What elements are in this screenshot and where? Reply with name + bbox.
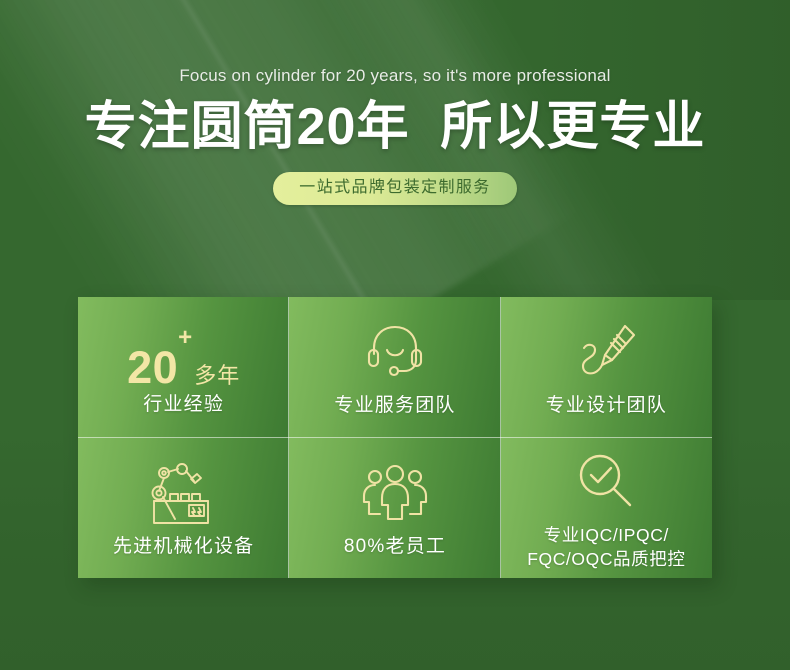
magnifier-check-icon	[572, 445, 640, 519]
feature-cell-quality-control: 专业IQC/IPQC/ FQC/OQC品质把控	[501, 438, 712, 579]
feature-label: 专业设计团队	[546, 393, 667, 419]
feature-label: 行业经验	[143, 392, 224, 418]
feature-cell-staff: 80%老员工	[289, 438, 500, 579]
tagline-row: 一站式品牌包装定制服务	[0, 172, 790, 205]
marker-pen-icon	[571, 315, 641, 389]
people-group-icon	[361, 456, 429, 530]
subtitle-english: Focus on cylinder for 20 years, so it's …	[0, 64, 790, 88]
feature-label: 专业IQC/IPQC/ FQC/OQC品质把控	[527, 523, 685, 571]
robot-arm-icon	[148, 456, 220, 530]
headline-block: Focus on cylinder for 20 years, so it's …	[0, 64, 790, 205]
feature-label: 先进机械化设备	[113, 534, 254, 560]
feature-cell-service-team: 专业服务团队	[289, 297, 500, 438]
page-title: 专注圆筒20年 所以更专业	[0, 94, 790, 160]
feature-label: 专业服务团队	[334, 393, 455, 419]
years-plus-sign: +	[178, 326, 192, 350]
feature-grid: 20 + 多年 行业经验 专业服务团队	[78, 297, 712, 578]
tagline-pill: 一站式品牌包装定制服务	[273, 172, 516, 205]
feature-label: 80%老员工	[344, 534, 446, 560]
feature-cell-years: 20 + 多年 行业经验	[78, 297, 289, 438]
years-number: 20	[127, 345, 178, 390]
promo-banner: Focus on cylinder for 20 years, so it's …	[0, 0, 790, 670]
years-suffix: 多年	[194, 364, 240, 388]
feature-cell-design-team: 专业设计团队	[501, 297, 712, 438]
years-badge: 20 + 多年	[127, 316, 240, 390]
feature-cell-machinery: 先进机械化设备	[78, 438, 289, 579]
headset-icon	[361, 315, 429, 389]
